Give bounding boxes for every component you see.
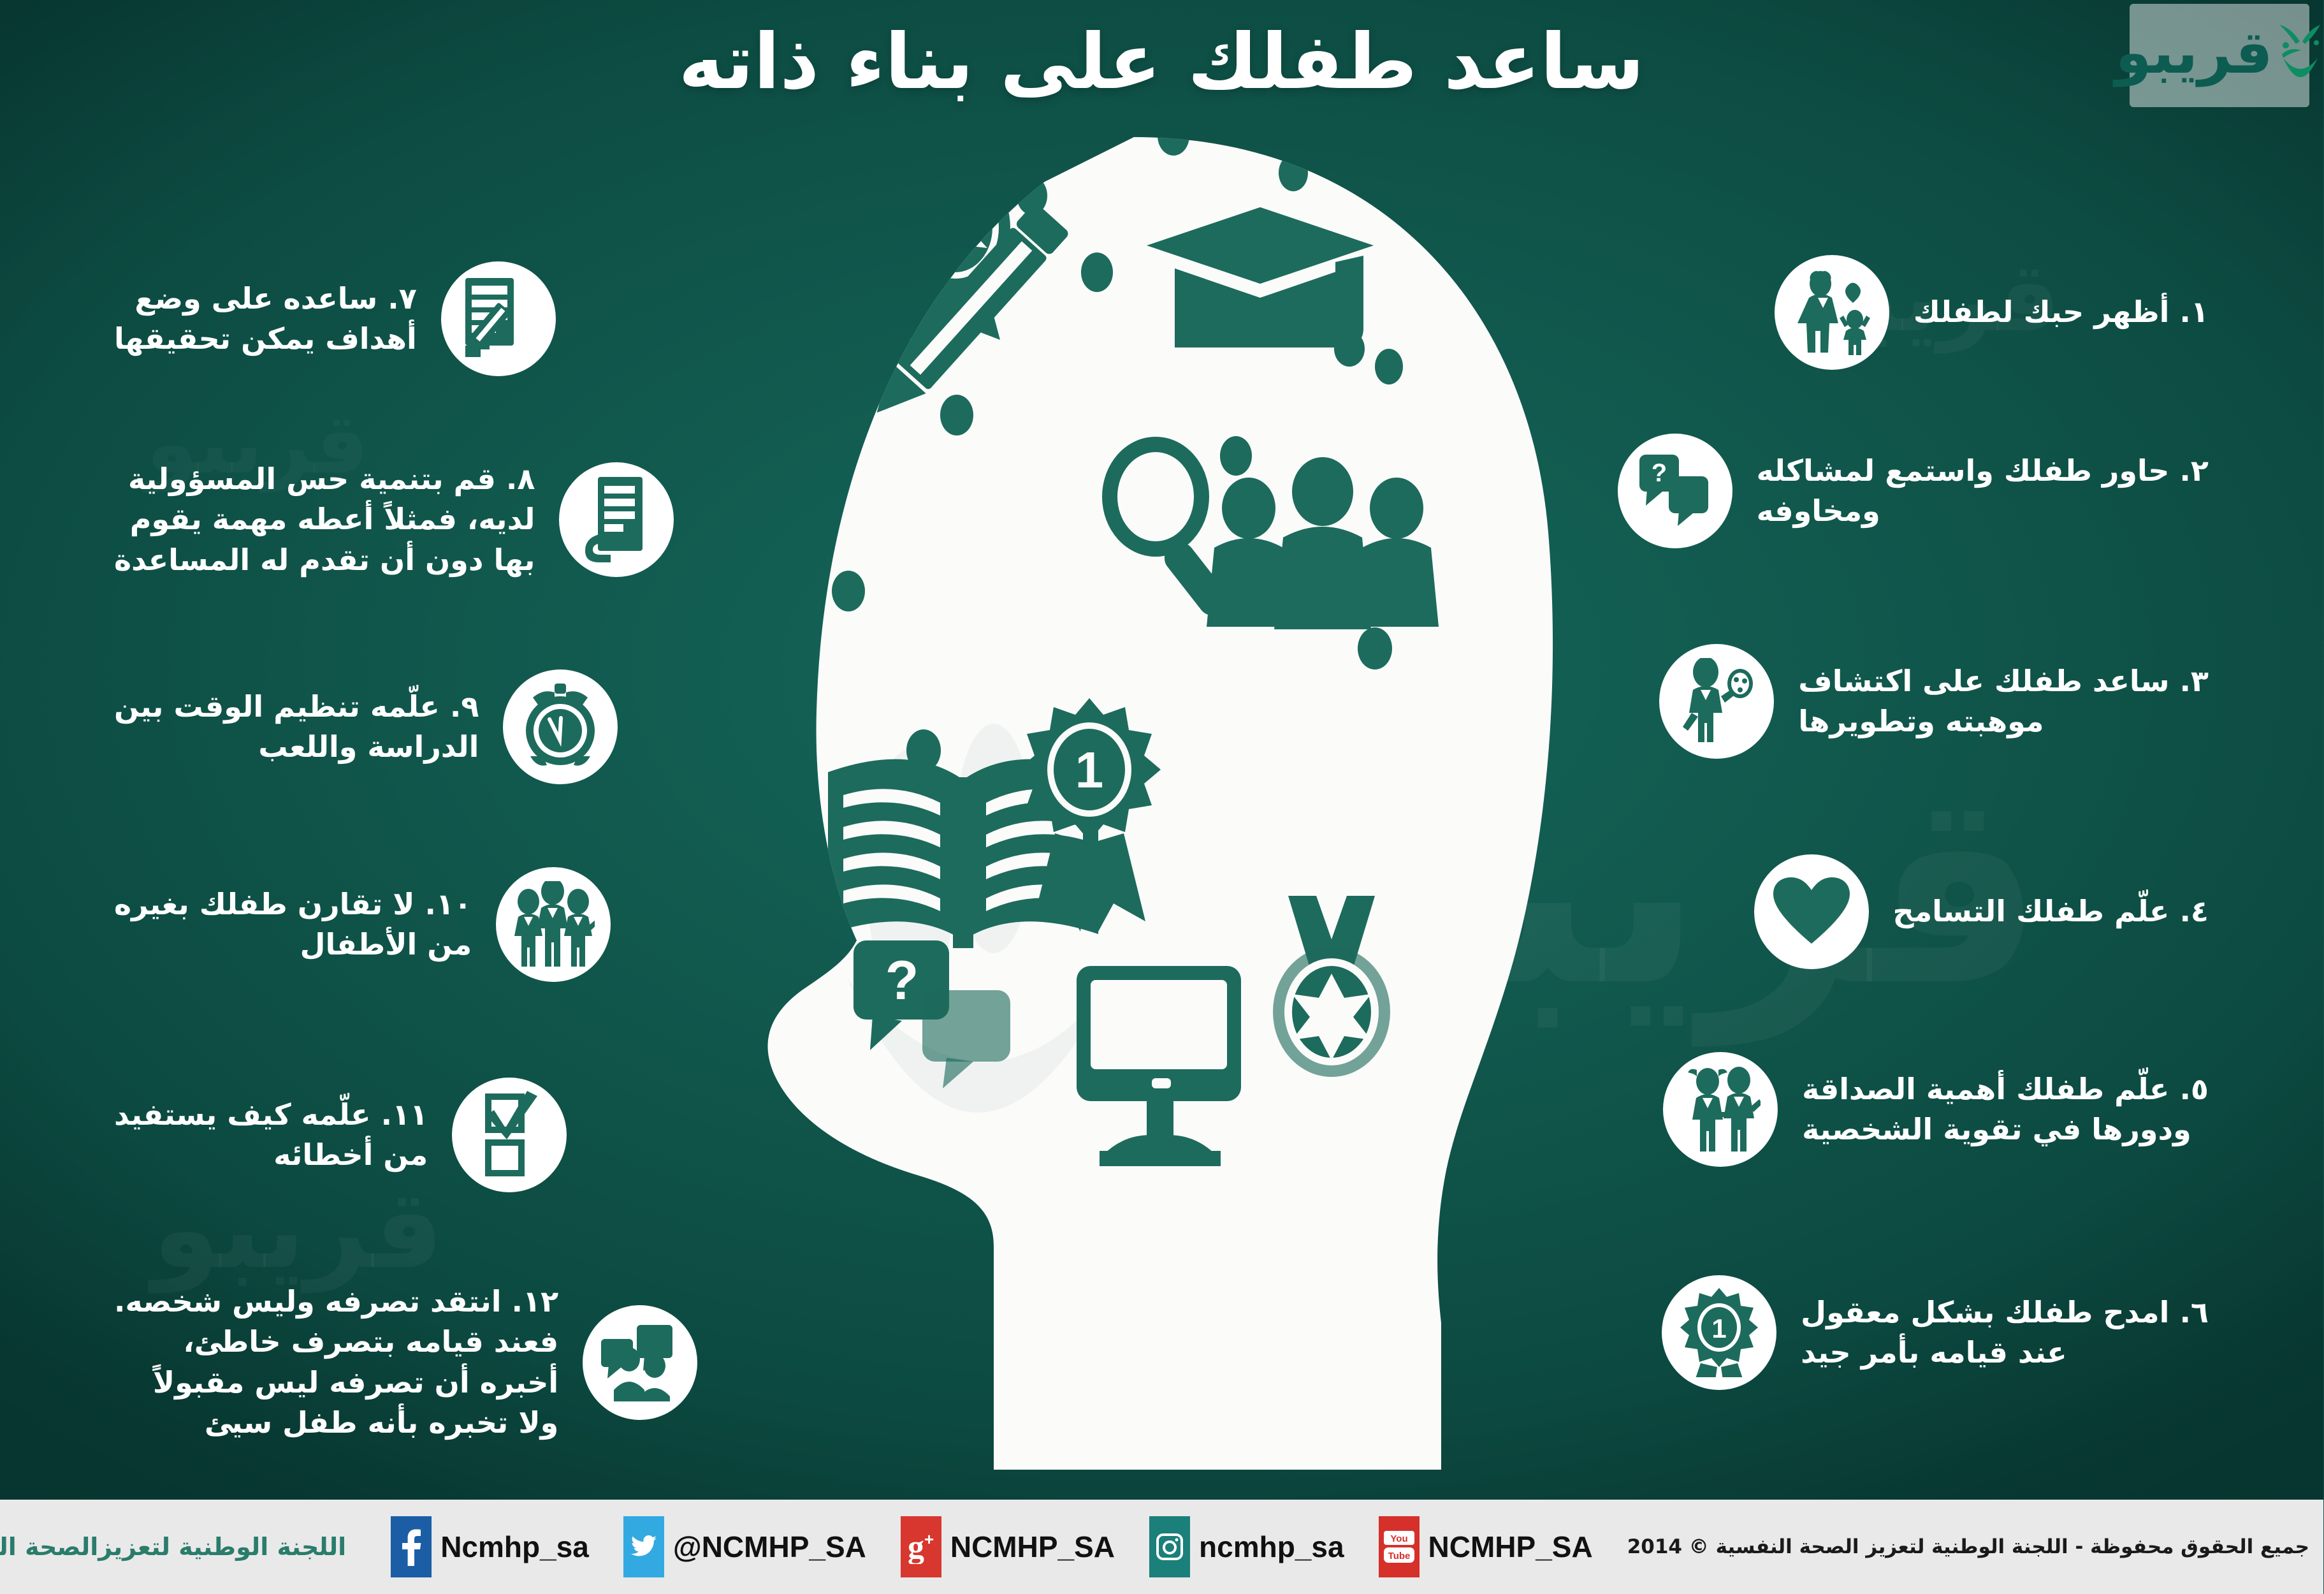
tip-text-6: ٦. امدح طفلك بشكل معقول عند قيامه بأمر ج…: [1777, 1292, 2209, 1373]
alarm-clock-icon: [504, 669, 618, 784]
tip-item-9[interactable]: ٩. علّمه تنظيم الوقت بين الدراسة واللعب: [115, 669, 618, 784]
social-link-googleplus[interactable]: g+ NCMHP_SA: [901, 1516, 1115, 1577]
two-friends-icon: [1664, 1052, 1778, 1167]
tip-text-5: ٥. علّم طفلك أهمية الصداقة ودورها في تقو…: [1778, 1069, 2209, 1150]
youtube-icon: You Tube: [1379, 1516, 1420, 1577]
organization-block: اللجنة الوطنية لتعزيزالصحة النفسية: [0, 1509, 366, 1585]
child-with-ball-icon: [1660, 644, 1775, 759]
child-head-silhouette: 1 ?: [637, 124, 1696, 1470]
tip-text-8: ٨. قم بتنمية حس المسؤولية لديه، فمثلاً أ…: [115, 459, 560, 580]
instagram-handle: ncmhp_sa: [1200, 1530, 1345, 1564]
googleplus-handle: NCMHP_SA: [951, 1530, 1115, 1564]
people-chat-icon: [583, 1305, 698, 1420]
svg-text:g: g: [908, 1530, 925, 1564]
heart-icon: [1755, 854, 1870, 969]
google-plus-icon: g+: [901, 1516, 942, 1577]
svg-text:?: ?: [1652, 459, 1667, 487]
tip-item-6[interactable]: ٦. امدح طفلك بشكل معقول عند قيامه بأمر ج…: [1662, 1275, 2209, 1390]
tip-item-3[interactable]: ٣. ساعد طفلك على اكتشاف موهبته وتطويرها: [1660, 644, 2209, 759]
award-ribbon-one-icon: 1: [1662, 1275, 1777, 1390]
document-pencil-icon: [442, 261, 556, 376]
tip-text-7: ٧. ساعده على وضع أهداف يمكن تحقيقها: [115, 279, 442, 360]
mother-child-heart-icon: [1775, 255, 1890, 370]
tip-text-9: ٩. علّمه تنظيم الوقت بين الدراسة واللعب: [115, 687, 504, 768]
hand-holding-document-icon: [560, 462, 674, 577]
twitter-handle: @NCMHP_SA: [674, 1530, 867, 1564]
instagram-icon: [1150, 1516, 1191, 1577]
tip-item-10[interactable]: ١٠. لا تقارن طفلك بغيره من الأطفال: [115, 867, 611, 982]
tip-item-7[interactable]: ٧. ساعده على وضع أهداف يمكن تحقيقها: [115, 261, 556, 376]
tip-text-2: ٢. حاور طفلك واستمع لمشاكله ومخاوفه: [1733, 451, 2209, 532]
social-link-youtube[interactable]: You Tube NCMHP_SA: [1379, 1516, 1594, 1577]
tip-item-12[interactable]: ١٢. انتقد تصرفه وليس شخصه. فعند قيامه بت…: [115, 1282, 698, 1444]
svg-text:Tube: Tube: [1388, 1551, 1411, 1561]
svg-text:You: You: [1391, 1533, 1408, 1544]
tip-item-5[interactable]: ٥. علّم طفلك أهمية الصداقة ودورها في تقو…: [1664, 1052, 2209, 1167]
tip-text-4: ٤. علّم طفلك التسامح: [1870, 891, 2209, 932]
twitter-icon: [624, 1516, 665, 1577]
facebook-icon: [391, 1516, 432, 1577]
tip-item-11[interactable]: ١١. علّمه كيف يستفيد من أخطائه: [115, 1078, 567, 1192]
brand-logo: قريبو: [2130, 4, 2310, 107]
tip-item-8[interactable]: ٨. قم بتنمية حس المسؤولية لديه، فمثلاً أ…: [115, 459, 674, 580]
social-links: Ncmhp_sa @NCMHP_SA g+ NCMHP_SA ncmhp_sa: [391, 1516, 1628, 1577]
three-children-icon: [497, 867, 611, 982]
ribbon-badge-value: 1: [1712, 1313, 1727, 1343]
brand-sprout-icon: [2277, 21, 2324, 90]
tip-item-2[interactable]: ٢. حاور طفلك واستمع لمشاكله ومخاوفه ?: [1618, 434, 2209, 548]
tip-text-1: ١. أظهر حبك لطفلك: [1890, 292, 2209, 332]
tip-item-4[interactable]: ٤. علّم طفلك التسامح: [1755, 854, 2209, 969]
svg-text:?: ?: [886, 950, 920, 1011]
youtube-handle: NCMHP_SA: [1429, 1530, 1594, 1564]
checkbox-checked-icon: [453, 1078, 567, 1192]
svg-text:+: +: [925, 1530, 934, 1549]
footer-bar: جميع الحقوق محفوظة - اللجنة الوطنية لتعز…: [0, 1500, 2324, 1594]
tip-text-11: ١١. علّمه كيف يستفيد من أخطائه: [115, 1095, 453, 1176]
tip-text-10: ١٠. لا تقارن طفلك بغيره من الأطفال: [115, 884, 497, 965]
social-link-twitter[interactable]: @NCMHP_SA: [624, 1516, 867, 1577]
tip-text-12: ١٢. انتقد تصرفه وليس شخصه. فعند قيامه بت…: [115, 1282, 583, 1444]
chat-bubbles-question-icon: ?: [1618, 434, 1733, 548]
copyright-text: جميع الحقوق محفوظة - اللجنة الوطنية لتعز…: [1628, 1535, 2324, 1558]
organization-name: اللجنة الوطنية لتعزيزالصحة النفسية: [0, 1533, 347, 1561]
facebook-handle: Ncmhp_sa: [441, 1530, 590, 1564]
social-link-facebook[interactable]: Ncmhp_sa: [391, 1516, 590, 1577]
tip-text-3: ٣. ساعد طفلك على اكتشاف موهبته وتطويرها: [1775, 661, 2209, 742]
tip-item-1[interactable]: ١. أظهر حبك لطفلك: [1775, 255, 2209, 370]
brand-name: قريبو: [2116, 24, 2273, 87]
social-link-instagram[interactable]: ncmhp_sa: [1150, 1516, 1345, 1577]
page-title: ساعد طفلك على بناء ذاته: [0, 18, 2324, 106]
svg-text:1: 1: [1076, 742, 1105, 798]
